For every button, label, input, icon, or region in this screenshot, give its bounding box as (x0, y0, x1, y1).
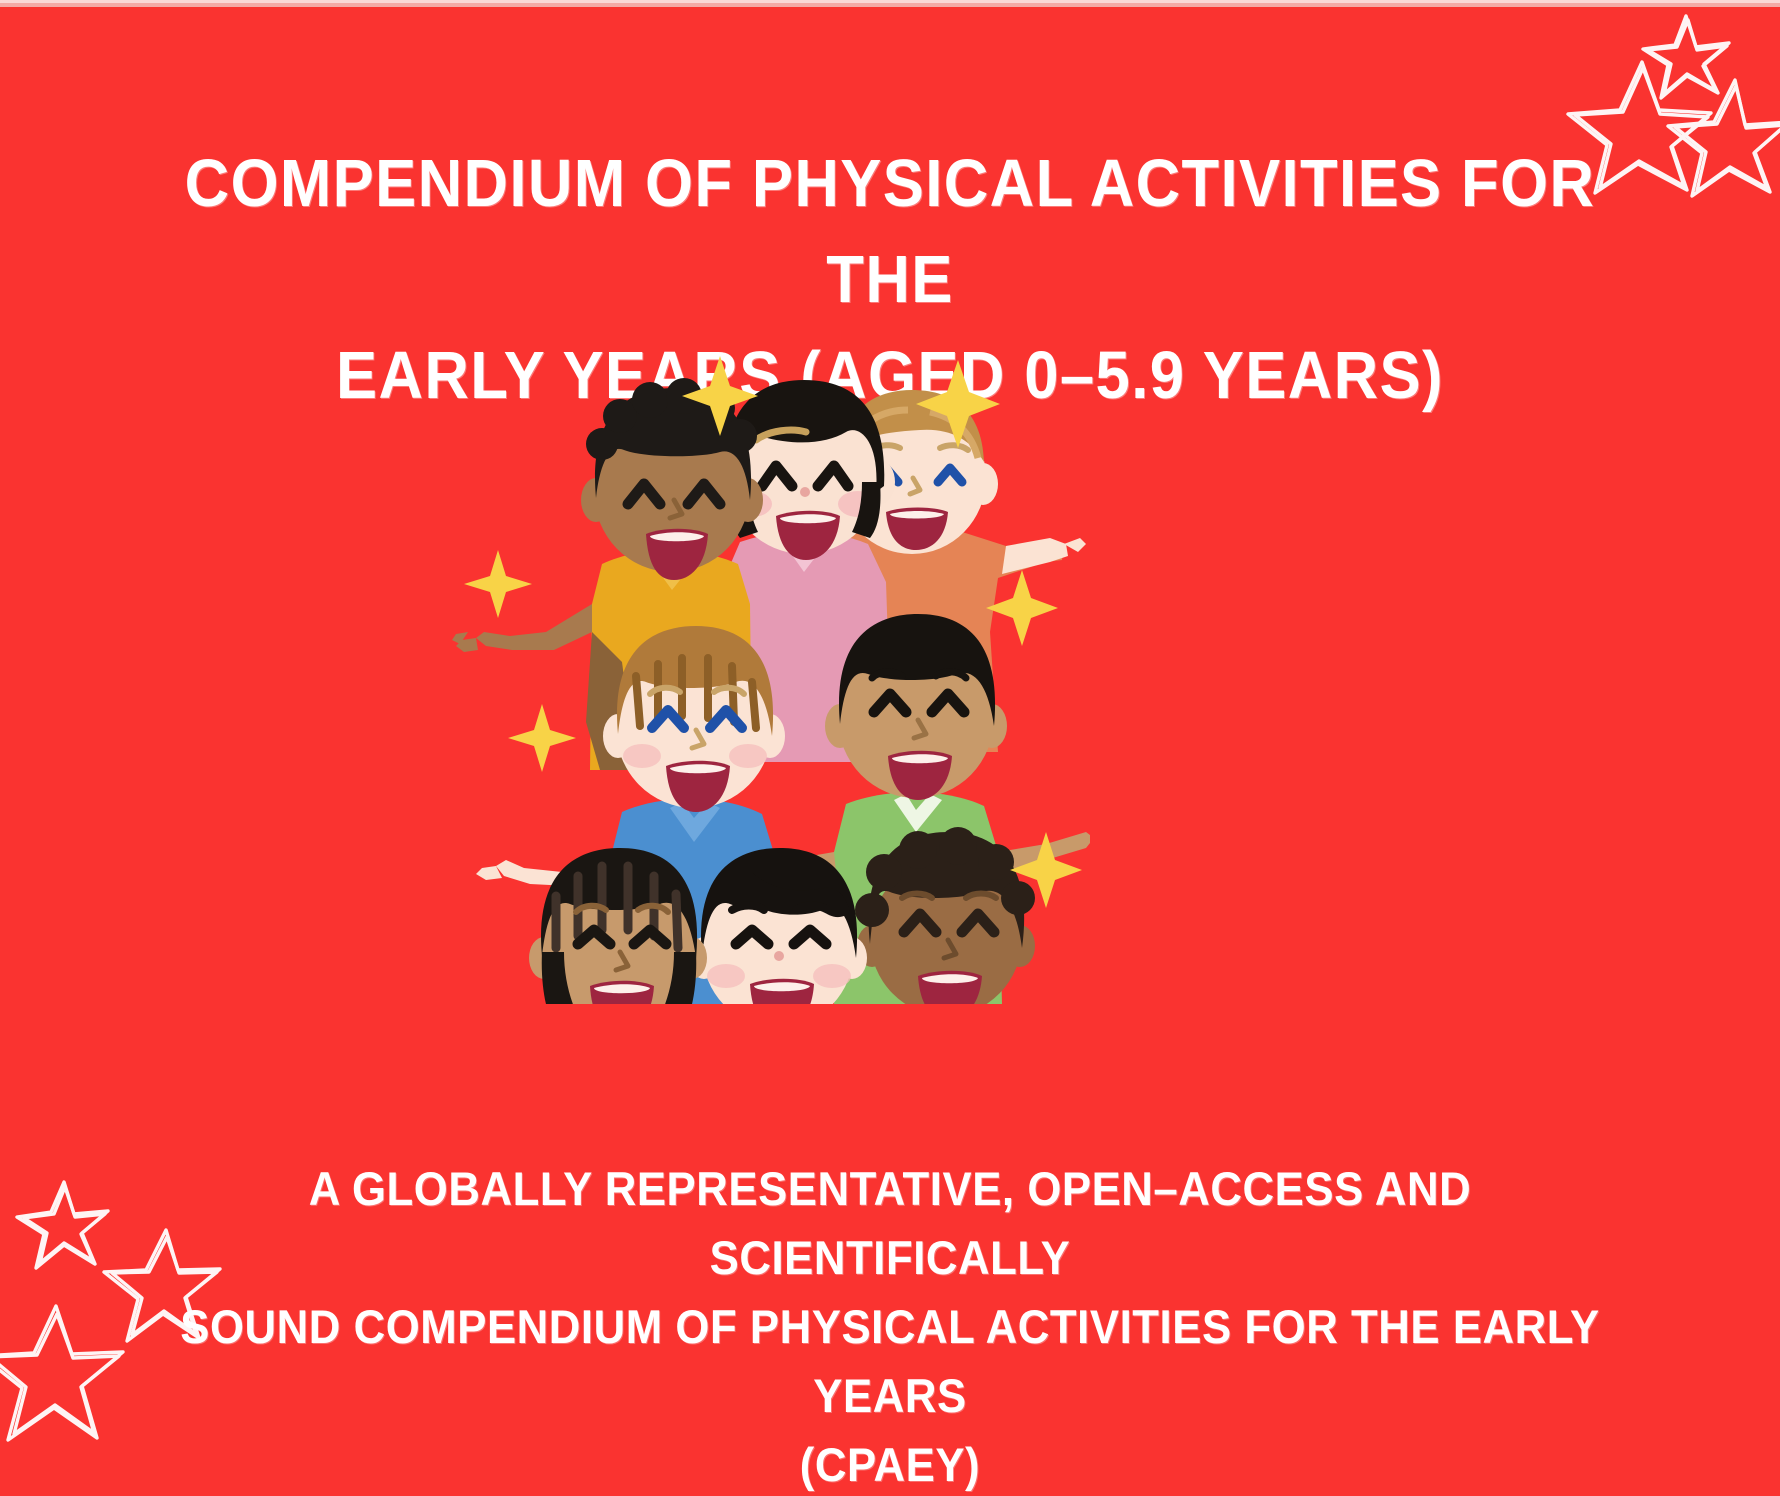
star-icon (104, 1230, 220, 1341)
group-of-cheering-children-illustration (450, 332, 1090, 1004)
star-icon (1643, 16, 1729, 98)
subtitle-line-3: (CPAEY) (127, 1430, 1652, 1496)
title-line-1: COMPENDIUM OF PHYSICAL ACTIVITIES FOR TH… (154, 136, 1626, 328)
page-subtitle: A GLOBALLY REPRESENTATIVE, OPEN–ACCESS A… (70, 1154, 1710, 1496)
star-icon (0, 1306, 123, 1440)
decorative-stars-bottom-left (0, 1138, 294, 1496)
subtitle-line-1: A GLOBALLY REPRESENTATIVE, OPEN–ACCESS A… (127, 1154, 1652, 1292)
subtitle-line-2: SOUND COMPENDIUM OF PHYSICAL ACTIVITIES … (127, 1292, 1652, 1430)
poster-canvas: COMPENDIUM OF PHYSICAL ACTIVITIES FOR TH… (0, 0, 1780, 1496)
star-icon (17, 1182, 108, 1268)
